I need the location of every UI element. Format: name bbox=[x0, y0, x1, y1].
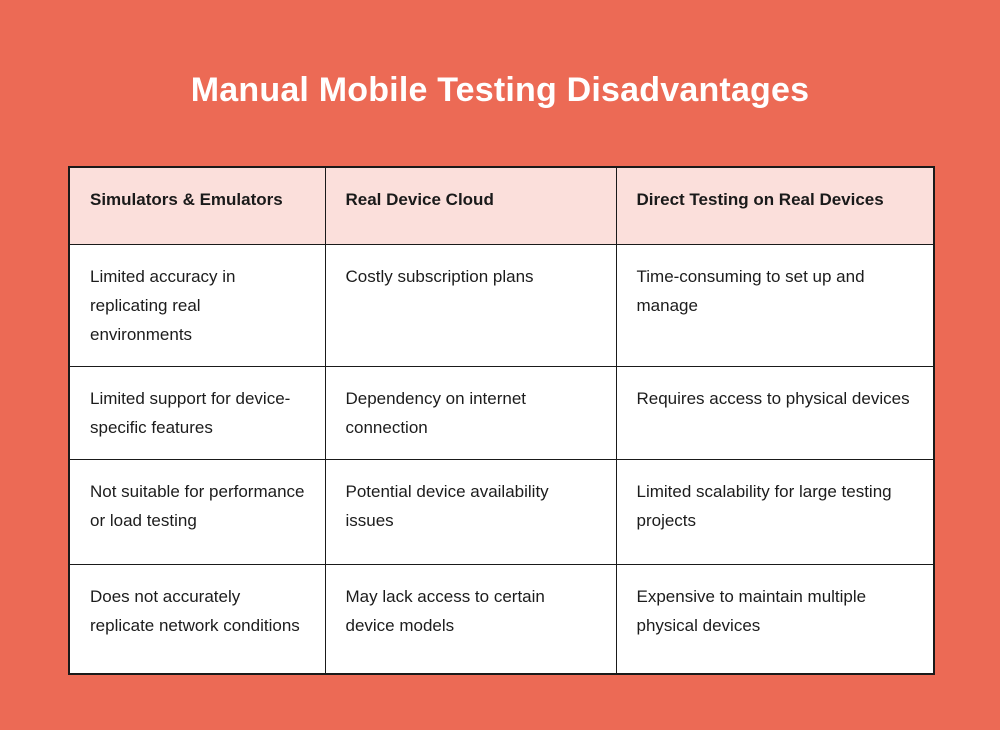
table-row: Does not accurately replicate network co… bbox=[69, 564, 934, 674]
column-header-real-device-cloud: Real Device Cloud bbox=[325, 167, 616, 244]
comparison-table-container: Simulators & Emulators Real Device Cloud… bbox=[68, 166, 933, 675]
page-title: Manual Mobile Testing Disadvantages bbox=[0, 68, 1000, 112]
table-cell: Dependency on internet connection bbox=[325, 366, 616, 459]
table-cell: Time-consuming to set up and manage bbox=[616, 244, 934, 366]
table-cell: Limited support for device-specific feat… bbox=[69, 366, 325, 459]
table-cell: Limited scalability for large testing pr… bbox=[616, 459, 934, 564]
table-cell: Requires access to physical devices bbox=[616, 366, 934, 459]
table-cell: May lack access to certain device models bbox=[325, 564, 616, 674]
table-row: Limited support for device-specific feat… bbox=[69, 366, 934, 459]
table-body: Limited accuracy in replicating real env… bbox=[69, 244, 934, 674]
table-cell: Expensive to maintain multiple physical … bbox=[616, 564, 934, 674]
table-cell: Not suitable for performance or load tes… bbox=[69, 459, 325, 564]
table-row: Limited accuracy in replicating real env… bbox=[69, 244, 934, 366]
table-cell: Potential device availability issues bbox=[325, 459, 616, 564]
table-header-row: Simulators & Emulators Real Device Cloud… bbox=[69, 167, 934, 244]
page-root: Manual Mobile Testing Disadvantages Simu… bbox=[0, 0, 1000, 730]
table-row: Not suitable for performance or load tes… bbox=[69, 459, 934, 564]
table-cell: Costly subscription plans bbox=[325, 244, 616, 366]
table-cell: Limited accuracy in replicating real env… bbox=[69, 244, 325, 366]
column-header-simulators-emulators: Simulators & Emulators bbox=[69, 167, 325, 244]
column-header-direct-testing-real-devices: Direct Testing on Real Devices bbox=[616, 167, 934, 244]
table-cell: Does not accurately replicate network co… bbox=[69, 564, 325, 674]
comparison-table: Simulators & Emulators Real Device Cloud… bbox=[68, 166, 935, 675]
table-header: Simulators & Emulators Real Device Cloud… bbox=[69, 167, 934, 244]
